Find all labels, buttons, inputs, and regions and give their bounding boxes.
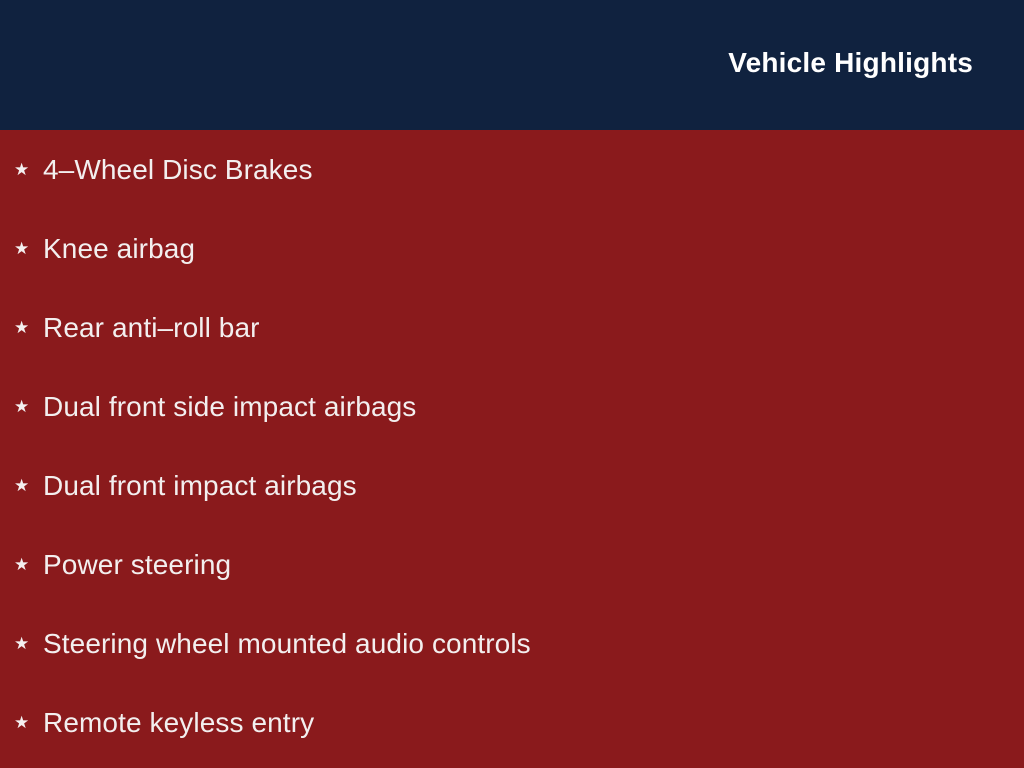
star-icon: ★ [14,316,29,340]
list-item: ★ Power steering [0,525,1024,604]
features-section: ★ 4–Wheel Disc Brakes ★ Knee airbag ★ Re… [0,130,1024,768]
star-icon: ★ [14,553,29,577]
star-icon: ★ [14,711,29,735]
list-item: ★ Dual front impact airbags [0,446,1024,525]
star-icon: ★ [14,158,29,182]
vehicle-highlights-list: ★ 4–Wheel Disc Brakes ★ Knee airbag ★ Re… [0,130,1024,762]
list-item-label: Dual front impact airbags [43,469,357,503]
list-item: ★ Knee airbag [0,209,1024,288]
star-icon: ★ [14,237,29,261]
header-band: Vehicle Highlights [0,0,1024,130]
list-item: ★ Dual front side impact airbags [0,367,1024,446]
list-item-label: Power steering [43,548,231,582]
list-item: ★ Rear anti–roll bar [0,288,1024,367]
list-item-label: Steering wheel mounted audio controls [43,627,531,661]
list-item-label: Rear anti–roll bar [43,311,260,345]
list-item: ★ 4–Wheel Disc Brakes [0,130,1024,209]
star-icon: ★ [14,474,29,498]
list-item: ★ Remote keyless entry [0,683,1024,762]
list-item-label: Knee airbag [43,232,195,266]
list-item: ★ Steering wheel mounted audio controls [0,604,1024,683]
list-item-label: 4–Wheel Disc Brakes [43,153,313,187]
vehicle-highlights-slide: Vehicle Highlights ★ 4–Wheel Disc Brakes… [0,0,1024,768]
list-item-label: Dual front side impact airbags [43,390,416,424]
page-title: Vehicle Highlights [728,46,973,80]
star-icon: ★ [14,632,29,656]
list-item-label: Remote keyless entry [43,706,314,740]
star-icon: ★ [14,395,29,419]
